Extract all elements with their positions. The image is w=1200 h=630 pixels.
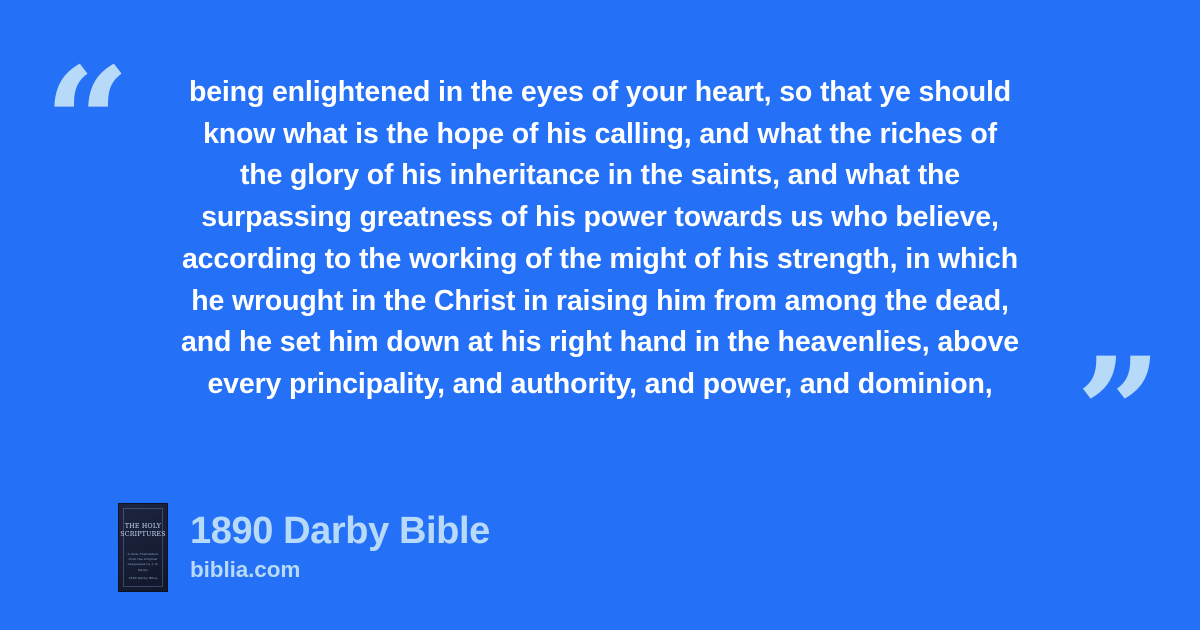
quote-line: the glory of his inheritance in the sain… <box>100 155 1100 197</box>
site-name[interactable]: biblia.com <box>190 556 490 583</box>
book-cover-title-line-2: Scriptures <box>119 531 167 539</box>
book-cover-footer: 1890 Darby Bible <box>124 576 162 580</box>
bible-version-title: 1890 Darby Bible <box>190 510 490 553</box>
attribution: The Holy Scriptures A New Translation fr… <box>118 503 490 592</box>
book-cover-title: The Holy Scriptures <box>119 523 167 540</box>
quote-text: being enlightened in the eyes of your he… <box>100 72 1100 406</box>
quote-card: “ being enlightened in the eyes of your … <box>0 0 1200 630</box>
book-cover-title-line-1: The Holy <box>119 523 167 531</box>
quote-line: know what is the hope of his calling, an… <box>100 114 1100 156</box>
quote-line: being enlightened in the eyes of your he… <box>100 72 1100 114</box>
quote-line: according to the working of the might of… <box>100 239 1100 281</box>
quote-line: and he set him down at his right hand in… <box>100 322 1100 364</box>
quote-line: every principality, and authority, and p… <box>100 364 1100 406</box>
quote-line: he wrought in the Christ in raising him … <box>100 281 1100 323</box>
attribution-text: 1890 Darby Bible biblia.com <box>190 503 490 583</box>
book-cover-thumbnail: The Holy Scriptures A New Translation fr… <box>118 503 168 592</box>
quote-block: “ being enlightened in the eyes of your … <box>0 46 1200 416</box>
close-quote-icon: ” <box>1076 338 1158 488</box>
quote-line: surpassing greatness of his power toward… <box>100 197 1100 239</box>
book-cover-subtitle: A New Translation from the Original Lang… <box>124 552 162 573</box>
